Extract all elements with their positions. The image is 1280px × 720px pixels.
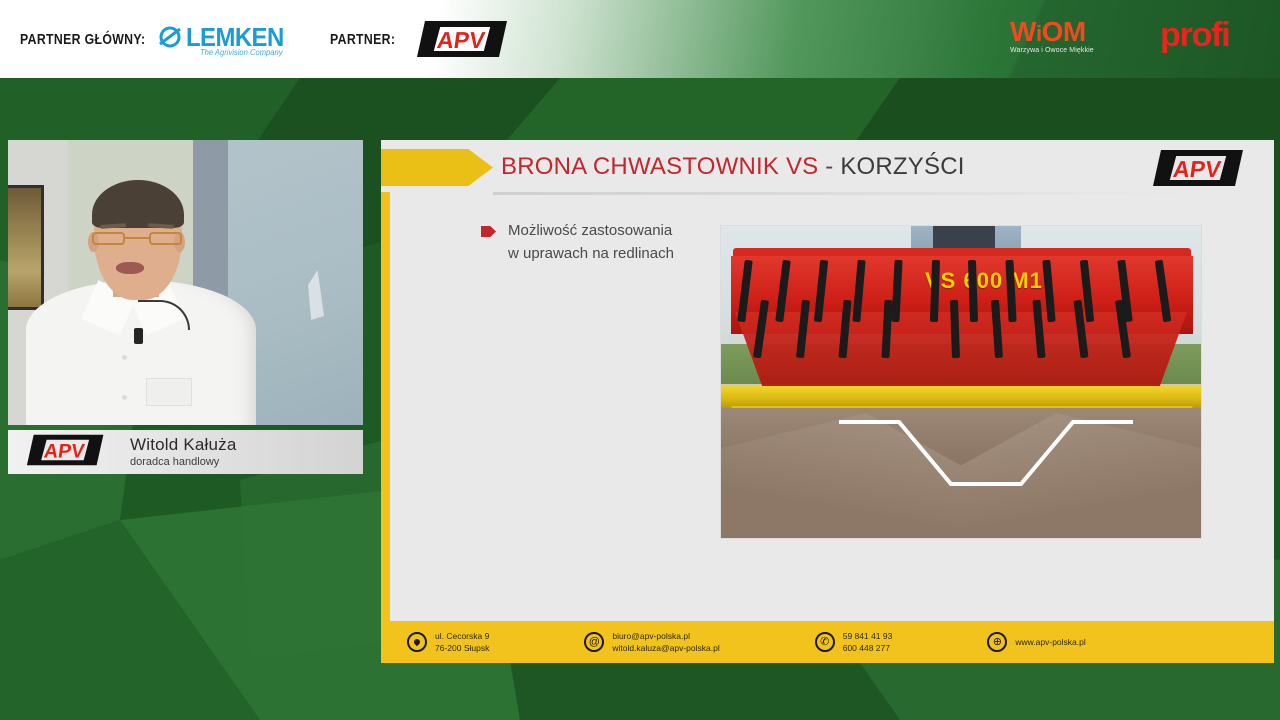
contact-web[interactable]: ⊕ www.apv-polska.pl [987,632,1085,652]
slide-bullet: Możliwość zastosowania w uprawach na red… [481,220,674,265]
phone-icon: ✆ [815,632,835,652]
lavalier-mic-icon [134,328,143,344]
wiom-wordmark: WiOM [1010,18,1128,46]
apv-logo-slide: APV [1144,148,1254,193]
presenter-mouth [116,262,144,274]
globe-icon: ⊕ [987,632,1007,652]
lower-third-name-bar: APV Witold Kałuża doradca handlowy [8,430,363,474]
cam-wall-picture [8,185,44,310]
slide-title-band: BRONA CHWASTOWNIK VS - KORZYŚCI APV [381,140,1274,192]
apv-logo-svg: APV [415,19,511,59]
contact-address: ul. Cecorska 9 76-200 Słupsk [407,630,489,655]
lemken-logo: LEMKEN The Agrivision Company [158,22,308,62]
presenter-glasses [92,232,184,245]
presenter-identity: Witold Kałuża doradca handlowy [130,436,237,469]
slide-contact-footer: ul. Cecorska 9 76-200 Słupsk @ biuro@apv… [381,621,1274,663]
svg-text:APV: APV [1172,156,1224,182]
slide-photo-machine-in-field: VS 600 M1 [720,225,1202,539]
lemken-swirl-icon [158,26,184,48]
location-pin-icon [407,632,427,652]
phone-line-2: 600 448 277 [843,642,893,654]
glasses-bridge [125,237,149,239]
presenter-role: doradca handlowy [130,456,237,468]
title-arrow-icon [381,149,493,186]
apv-logo-namebar: APV [18,433,114,472]
email-line-2[interactable]: witold.kaluza@apv-polska.pl [612,642,719,654]
presenter-video-panel [8,140,363,425]
slide-title: BRONA CHWASTOWNIK VS - KORZYŚCI [501,153,965,181]
shirt-button [122,395,127,400]
sponsor-header-bar: PARTNER GŁÓWNY: LEMKEN The Agrivision Co… [0,0,1280,78]
slide-left-accent-bar [381,140,390,663]
presentation-slide: BRONA CHWASTOWNIK VS - KORZYŚCI APV Możl… [381,140,1274,663]
slide-title-red: BRONA CHWASTOWNIK VS [501,153,818,180]
apv-logo-svg: APV [1144,148,1254,188]
at-sign-icon: @ [584,632,604,652]
slide-title-dash: - [818,153,840,180]
slide-title-underline [493,192,1193,195]
photo-furrow-outline [721,226,1202,539]
profi-logo: profi [1160,18,1230,52]
presenter-name: Witold Kałuża [130,436,237,455]
email-line-1[interactable]: biuro@apv-polska.pl [612,630,719,642]
wiom-subtitle: Warzywa i Owoce Miękkie [1010,47,1128,54]
contact-phone: ✆ 59 841 41 93 600 448 277 [815,630,893,655]
partner-label: PARTNER: [330,31,395,48]
shirt-pocket [146,378,192,406]
main-partner-label: PARTNER GŁÓWNY: [20,31,145,48]
website-url[interactable]: www.apv-polska.pl [1015,636,1085,648]
glasses-lens-right [149,232,182,245]
apv-logo-header: APV [415,19,511,64]
apv-logo-svg: APV [18,433,114,467]
lemken-tagline: The Agrivision Company [200,48,283,57]
shirt-button [122,355,127,360]
address-line-1: ul. Cecorska 9 [435,630,489,642]
phone-line-1: 59 841 41 93 [843,630,893,642]
address-line-2: 76-200 Słupsk [435,642,489,654]
svg-text:APV: APV [436,27,488,53]
contact-email[interactable]: @ biuro@apv-polska.pl witold.kaluza@apv-… [584,630,719,655]
slide-title-rest: KORZYŚCI [840,153,964,180]
wiom-logo: WiOM Warzywa i Owoce Miękkie [1010,18,1128,62]
svg-text:APV: APV [43,440,86,462]
glasses-lens-left [92,232,125,245]
bullet-arrow-icon [481,226,496,237]
bullet-text: Możliwość zastosowania w uprawach na red… [508,220,674,265]
